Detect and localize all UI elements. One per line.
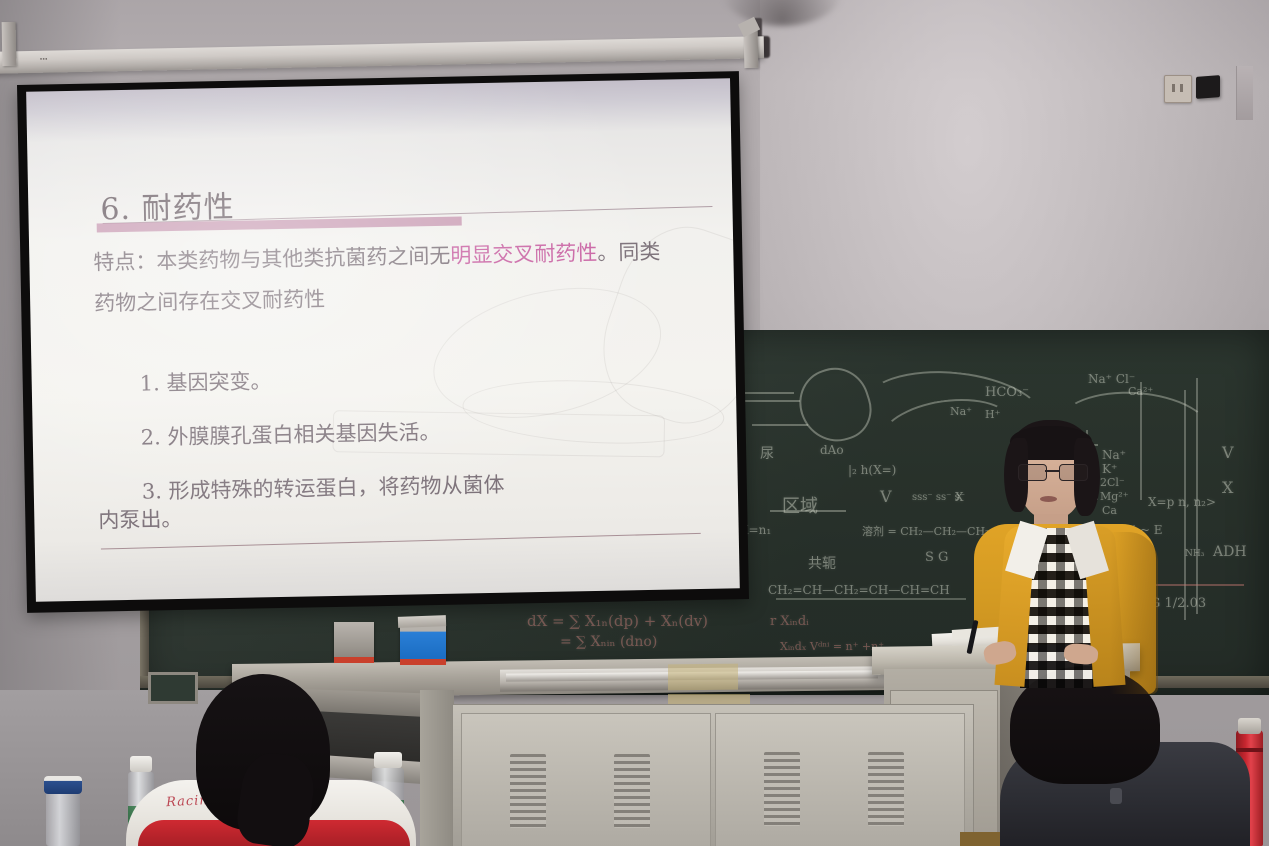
cabinet-door-right[interactable] xyxy=(715,713,965,846)
roller-bracket-left xyxy=(2,22,17,66)
ledge-tape-tag xyxy=(668,664,738,691)
slide-list-number: 1. xyxy=(140,371,167,396)
slide-bullet-list: 1. 基因突变。2. 外膜膜孔蛋白相关基因失活。3. 形成特殊的转运蛋白，将药物… xyxy=(95,359,679,560)
wall-edge-strip xyxy=(1236,66,1253,120)
slide-body-highlight: 明显交叉耐药性 xyxy=(450,241,597,268)
glasses-lens-left xyxy=(1018,464,1047,481)
slide-list-item: 3. 形成特殊的转运蛋白，将药物从菌体内泵出。 xyxy=(98,467,679,534)
metal-cabinet[interactable] xyxy=(452,704,974,846)
instructor-cardigan-shadow xyxy=(1110,532,1158,694)
screen-surface: 6. 耐药性 特点：本类药物与其他类抗菌药之间无明显交叉耐药性。同类药物之间存在… xyxy=(26,78,740,601)
cabinet-side-panel xyxy=(420,690,454,846)
slide-body-paragraph: 特点：本类药物与其他类抗菌药之间无明显交叉耐药性。同类药物之间存在交叉耐药性 xyxy=(93,231,674,324)
slide-list-text: 外膜膜孔蛋白相关基因失活。 xyxy=(167,420,440,449)
student-right-jacket-button xyxy=(1110,788,1122,804)
slide-list-text: 形成特殊的转运蛋白，将药物从菌体 xyxy=(168,473,504,503)
instructor xyxy=(960,420,1170,690)
cabinet-vent-icon xyxy=(868,752,904,826)
wall-socket-icon[interactable] xyxy=(1164,75,1192,103)
slide-list-text: 基因突变。 xyxy=(166,369,271,395)
classroom-photo: HCO₃⁻Na⁺H⁺Na⁺ Cl⁻Ca²⁺Na⁺K⁺2Cl⁻Mg²⁺CadAo尿… xyxy=(0,0,1269,846)
slide-list-item: 2. 外膜膜孔蛋白相关基因失活。 xyxy=(97,413,677,452)
instructor-mouth xyxy=(1040,496,1057,502)
slide-body-tail2: 药性 xyxy=(283,287,325,312)
projection-screen[interactable]: 6. 耐药性 特点：本类药物与其他类抗菌药之间无明显交叉耐药性。同类药物之间存在… xyxy=(17,71,749,613)
cabinet-vent-icon xyxy=(614,754,650,828)
glasses-icon xyxy=(1018,464,1086,479)
bottle-cap-blue-icon xyxy=(44,776,82,794)
slide-list-item: 1. 基因突变。 xyxy=(95,359,675,398)
eraser-box-lid xyxy=(398,615,446,628)
slide-body-lead: 特点：本类药物与其他类抗菌药之间无 xyxy=(93,244,450,275)
eraser-grey[interactable] xyxy=(334,622,374,658)
slide-list-number: 2. xyxy=(141,425,168,450)
roller-brand-label: ▪▪▪ xyxy=(40,57,48,63)
presentation-slide: 6. 耐药性 特点：本类药物与其他类抗菌药之间无明显交叉耐药性。同类药物之间存在… xyxy=(26,78,740,601)
slide-list-number: 3. xyxy=(142,479,169,504)
cabinet-door-left[interactable] xyxy=(461,713,711,846)
student-front-left: Racing xyxy=(120,668,420,846)
glasses-lens-right xyxy=(1059,464,1088,481)
glasses-bridge xyxy=(1045,470,1059,472)
water-bottle-blue-cap[interactable] xyxy=(46,788,80,846)
cabinet-vent-icon xyxy=(510,754,546,828)
cabinet-vent-icon xyxy=(764,752,800,826)
wall-mounted-device-icon xyxy=(1196,75,1220,99)
